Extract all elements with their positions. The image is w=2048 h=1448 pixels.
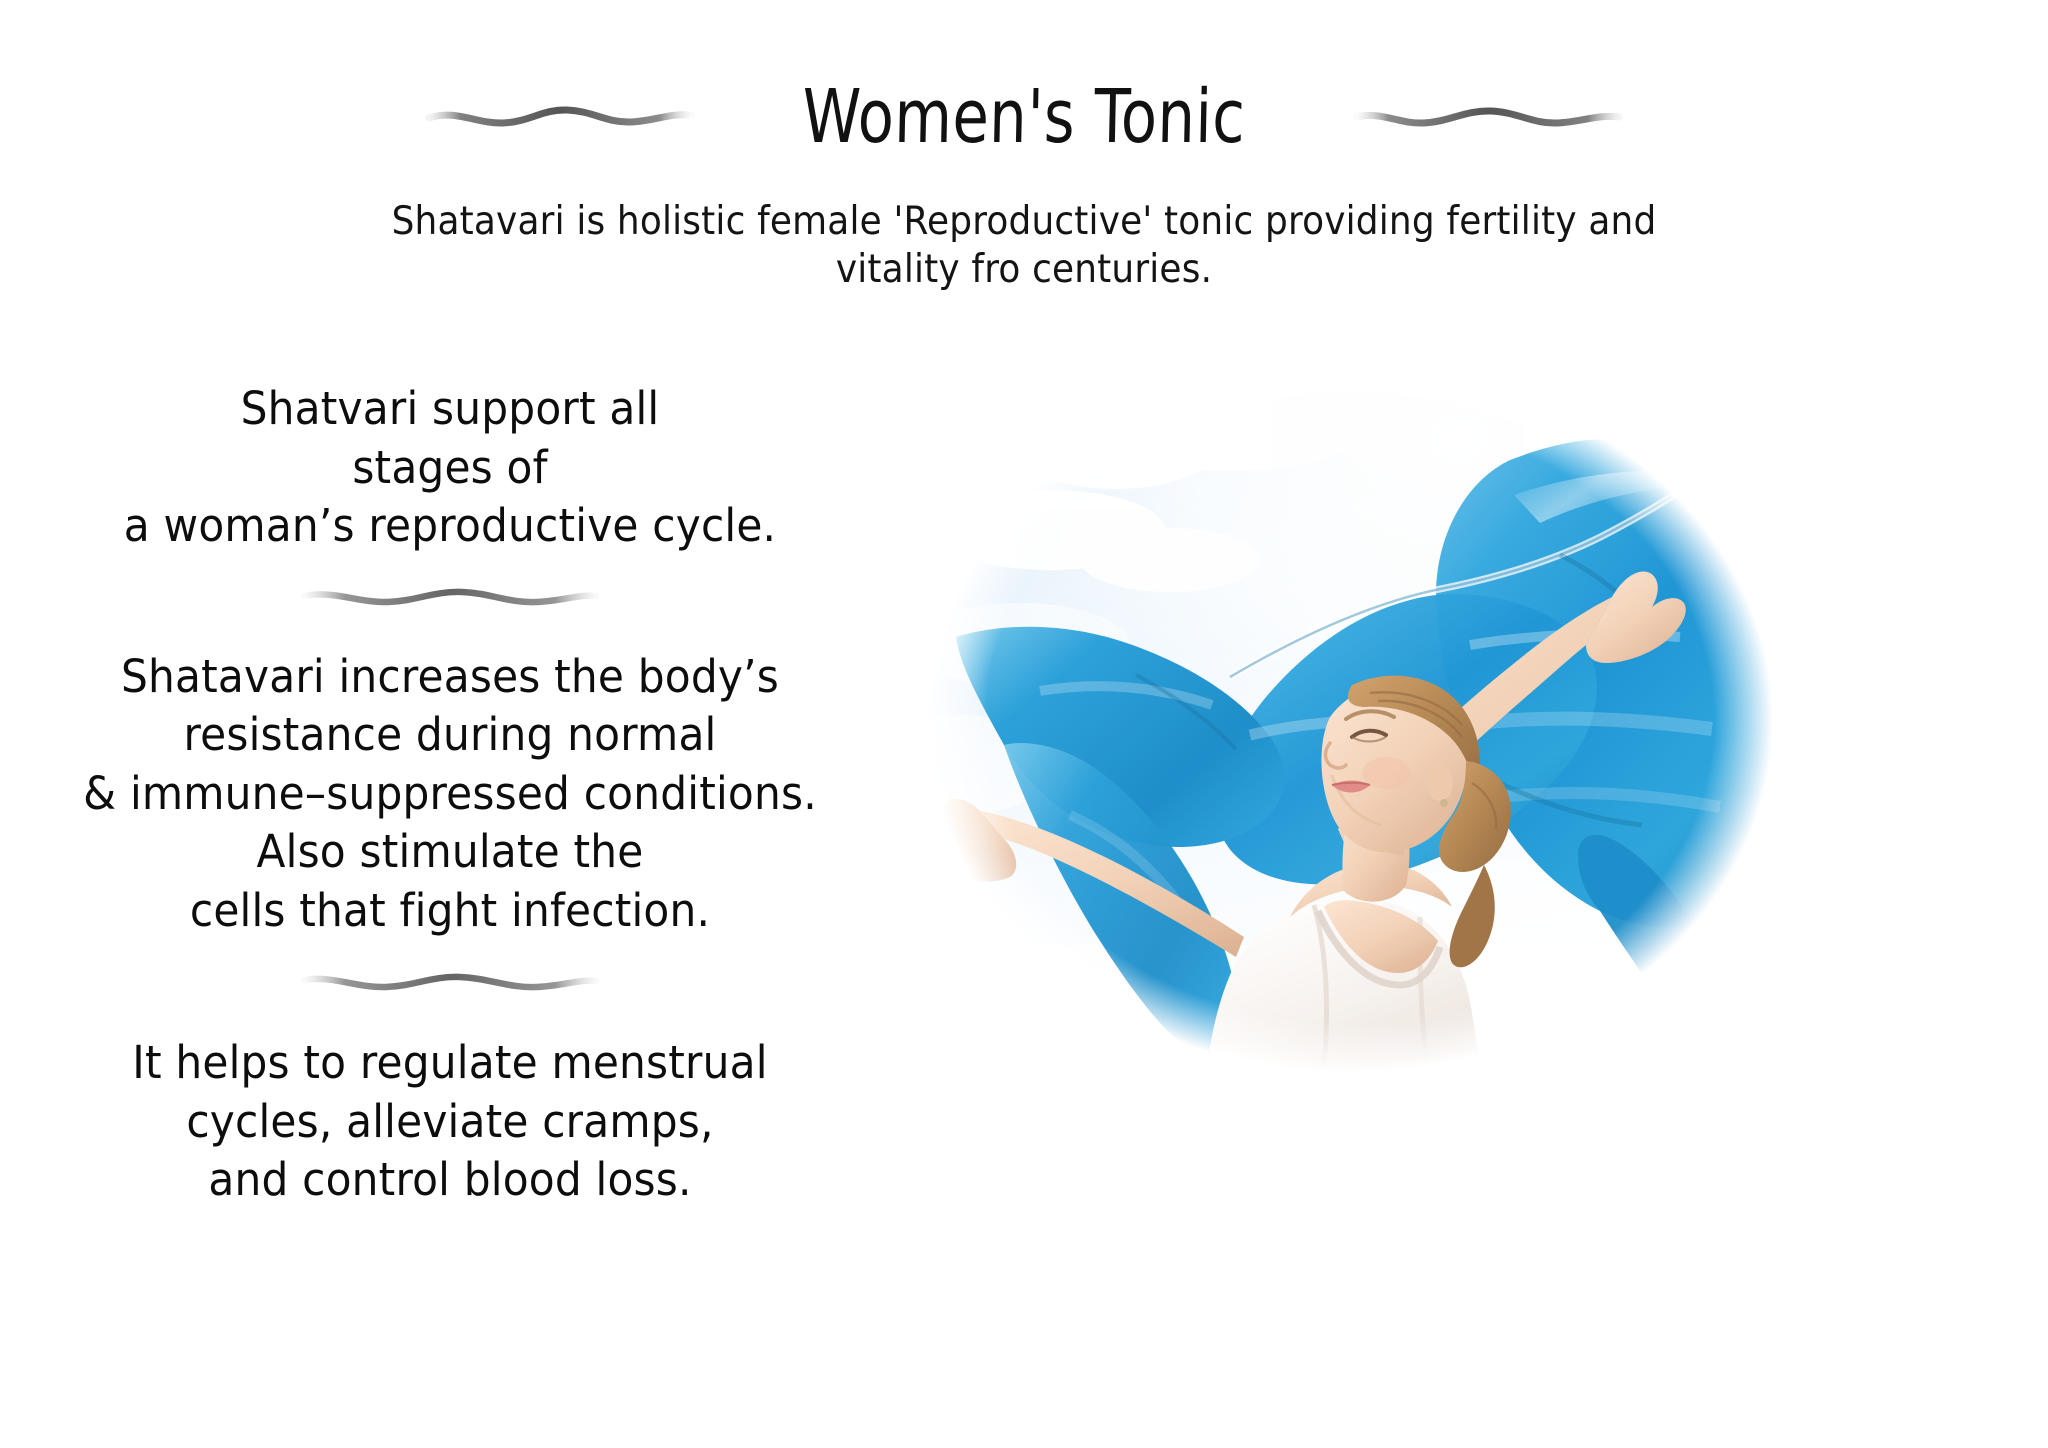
benefit-line: and control blood loss. [27, 1151, 873, 1210]
benefit-line: Shatavari increases the body’s [27, 648, 873, 707]
wavy-divider-2 [300, 966, 600, 1000]
benefit-line: Shatvari support all [27, 380, 873, 439]
wavy-divider-title-left [425, 97, 695, 137]
benefit-block-immunity: Shatavari increases the body’s resistanc… [0, 648, 900, 941]
left-text-column: Shatvari support all stages of a woman’s… [0, 380, 900, 1210]
divider-wrap-1 [0, 580, 900, 614]
page-title: Women's Tonic [802, 80, 1246, 154]
photo-woman-with-blue-scarf [900, 345, 1800, 1095]
subtitle-line-2: vitality fro centuries. [836, 247, 1212, 292]
benefit-line: resistance during normal [27, 706, 873, 765]
photo-oval-frame [900, 345, 1800, 1095]
poster-canvas: Women's Tonic Shatavari is holistic fema… [0, 0, 2048, 1448]
benefit-line: Also stimulate the [27, 823, 873, 882]
title-row: Women's Tonic [0, 72, 2048, 162]
benefit-block-reproductive-cycle: Shatvari support all stages of a woman’s… [0, 380, 900, 556]
divider-wrap-2 [0, 966, 900, 1000]
benefit-line: cells that fight infection. [27, 882, 873, 941]
wavy-divider-title-right [1353, 97, 1623, 137]
benefit-line: a woman’s reproductive cycle. [27, 497, 873, 556]
benefit-line: stages of [27, 439, 873, 498]
benefit-line: & immune–suppressed conditions. [27, 765, 873, 824]
benefit-block-menstrual: It helps to regulate menstrual cycles, a… [0, 1034, 900, 1210]
photo-clip [900, 345, 1800, 1095]
subtitle-line-1: Shatavari is holistic female 'Reproducti… [392, 199, 1657, 244]
wavy-divider-1 [300, 580, 600, 614]
benefit-line: It helps to regulate menstrual [27, 1034, 873, 1093]
subtitle: Shatavari is holistic female 'Reproducti… [352, 198, 1695, 293]
benefit-line: cycles, alleviate cramps, [27, 1093, 873, 1152]
header: Women's Tonic Shatavari is holistic fema… [0, 0, 2048, 330]
